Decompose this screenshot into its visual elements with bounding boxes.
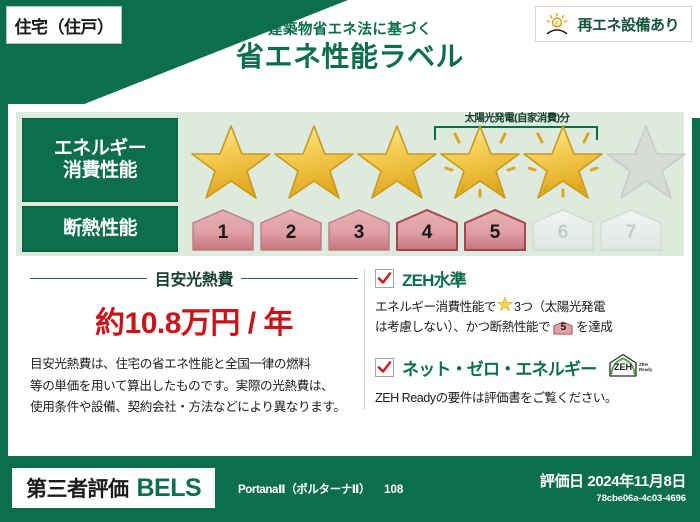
insulation-performance-label-text: 断熱性能: [63, 218, 137, 240]
insulation-level-1: 1: [190, 208, 256, 252]
insulation-level-7: 7: [598, 208, 664, 252]
zeh-ready-logo: ZEH ZEH Ready: [604, 352, 653, 383]
label-body: エネルギー 消費性能 太陽光発電(自家消費)分: [8, 104, 692, 456]
zeh-body-text-c: は考慮しない）、かつ断熱性能で: [375, 317, 550, 337]
criterion-zeh-standard-body-line-2: は考慮しない）、かつ断熱性能で 5 を達成: [375, 317, 678, 337]
criterion-net-zero-energy: ネット・ゼロ・エネルギー ZEH ZEH Ready Z: [375, 352, 678, 408]
insulation-level-4-number: 4: [394, 222, 460, 244]
performance-panel: エネルギー 消費性能 太陽光発電(自家消費)分: [16, 112, 684, 256]
insulation-level-2: 2: [258, 208, 324, 252]
star-4-solar: [439, 120, 521, 200]
criterion-zeh-standard-head: ZEH水準: [375, 266, 678, 291]
svg-text:ZEH: ZEH: [614, 362, 632, 372]
criterion-zeh-standard-title: ZEH水準: [402, 266, 466, 291]
star-3: [356, 120, 438, 200]
check-icon: [377, 271, 392, 286]
insulation-level-4: 4: [394, 208, 460, 252]
title-heading: 省エネ性能ラベル: [0, 42, 700, 71]
insulation-performance-content: 1 2 3: [178, 206, 678, 252]
criterion-net-zero-energy-title: ネット・ゼロ・エネルギー: [402, 355, 596, 380]
criterion-zeh-standard-body: エネルギー消費性能で 3つ（太陽光発電 は考慮しない）、かつ断熱性能で: [375, 296, 678, 338]
building-type-chip: 住宅（住戸）: [6, 6, 122, 44]
renewable-equipment-chip: E 再エネ設備あり: [535, 6, 692, 42]
evaluation-uid: 78cbe06a-4c03-4696: [540, 493, 686, 504]
building-type-label: 住宅（住戸）: [15, 13, 114, 38]
sun-icon: E: [544, 12, 570, 36]
section-divider: [364, 268, 365, 410]
star-rating: [178, 118, 687, 202]
criterion-zeh-standard-body-line-1: エネルギー消費性能で 3つ（太陽光発電: [375, 296, 678, 317]
label-footer: 第三者評価 BELS PortanaⅡ（ポルターナⅡ） 108 評価日 2024…: [0, 456, 700, 522]
bels-energy-label: 住宅（住戸） E 再エネ設備あり 建築物省エネ法に基づく 省エネ性能ラベル: [0, 0, 700, 522]
svg-text:Ready: Ready: [639, 367, 653, 372]
insulation-level-3: 3: [326, 208, 392, 252]
star-icon: [496, 296, 514, 317]
checkbox-zeh-standard[interactable]: [375, 269, 394, 288]
star-1: [190, 120, 272, 200]
energy-performance-label-line1: エネルギー: [54, 138, 147, 160]
energy-cost-note-line-2: 等の単価を用いて算出したものです。実際の光熱費は、: [30, 376, 358, 398]
insulation-performance-row: 断熱性能: [16, 206, 684, 252]
inline-insulation-badge: 5: [553, 320, 573, 336]
bels-certification-en: BELS: [137, 474, 202, 503]
energy-performance-label-line2: 消費性能: [63, 160, 137, 182]
energy-cost-note-line-3: 使用条件や設備、契約会社・方法などにより異なります。: [30, 397, 358, 419]
evaluation-info: 評価日 2024年11月8日 78cbe06a-4c03-4696: [540, 470, 686, 504]
svg-text:E: E: [555, 20, 560, 27]
insulation-level-6-number: 6: [530, 222, 596, 244]
energy-cost-value: 約10.8万円 / 年: [30, 298, 358, 342]
inline-insulation-badge-number: 5: [561, 318, 566, 336]
energy-cost-heading-text: 目安光熱費: [155, 266, 234, 290]
insulation-level-6: 6: [530, 208, 596, 252]
energy-performance-content: 太陽光発電(自家消費)分: [178, 118, 687, 202]
criterion-net-zero-energy-body-line-1: ZEH Readyの要件は評価書をご覧ください。: [375, 388, 678, 408]
criterion-net-zero-energy-head: ネット・ゼロ・エネルギー ZEH ZEH Ready: [375, 352, 678, 383]
energy-cost-heading: 目安光熱費: [30, 266, 358, 290]
insulation-level-5: 5: [462, 208, 528, 252]
insulation-level-3-number: 3: [326, 222, 392, 244]
insulation-level-7-number: 7: [598, 222, 664, 244]
renewable-equipment-label: 再エネ設備あり: [577, 14, 679, 35]
bels-certification-ja: 第三者評価: [26, 473, 129, 503]
criterion-zeh-standard: ZEH水準 エネルギー消費性能で 3つ（太陽光発電: [375, 266, 678, 338]
insulation-performance-label: 断熱性能: [22, 206, 178, 252]
energy-cost-section: 目安光熱費 約10.8万円 / 年 目安光熱費は、住宅の省エネ性能と全国一律の燃…: [16, 264, 364, 414]
star-6-empty: [605, 120, 687, 200]
heading-rule-left: [30, 278, 147, 279]
energy-performance-row: エネルギー 消費性能 太陽光発電(自家消費)分: [16, 118, 684, 202]
energy-cost-note-line-1: 目安光熱費は、住宅の省エネ性能と全国一律の燃料: [30, 354, 358, 376]
insulation-level-5-number: 5: [462, 222, 528, 244]
insulation-level-scale: 1 2 3: [178, 206, 678, 252]
check-icon: [377, 360, 392, 375]
product-number: 108: [384, 484, 403, 496]
criteria-section: ZEH水準 エネルギー消費性能で 3つ（太陽光発電: [375, 264, 684, 414]
bels-certification-chip: 第三者評価 BELS: [12, 468, 215, 508]
lower-section: 目安光熱費 約10.8万円 / 年 目安光熱費は、住宅の省エネ性能と全国一律の燃…: [16, 264, 684, 414]
zeh-body-text-a: エネルギー消費性能で: [375, 297, 496, 317]
zeh-body-text-d: を達成: [576, 317, 612, 337]
bels-meta: PortanaⅡ（ポルターナⅡ） 108: [238, 481, 403, 497]
star-2: [273, 120, 355, 200]
evaluation-date: 評価日 2024年11月8日: [540, 470, 686, 491]
energy-performance-label: エネルギー 消費性能: [22, 118, 178, 202]
heading-rule-right: [241, 278, 358, 279]
checkbox-net-zero-energy[interactable]: [375, 358, 394, 377]
criterion-net-zero-energy-body: ZEH Readyの要件は評価書をご覧ください。: [375, 388, 678, 408]
zeh-body-text-b: 3つ（太陽光発電: [514, 297, 605, 317]
insulation-level-1-number: 1: [190, 222, 256, 244]
insulation-level-2-number: 2: [258, 222, 324, 244]
star-5-solar: [522, 120, 604, 200]
energy-cost-note: 目安光熱費は、住宅の省エネ性能と全国一律の燃料 等の単価を用いて算出したものです…: [30, 354, 358, 419]
product-model-name: PortanaⅡ（ポルターナⅡ）: [238, 481, 370, 497]
